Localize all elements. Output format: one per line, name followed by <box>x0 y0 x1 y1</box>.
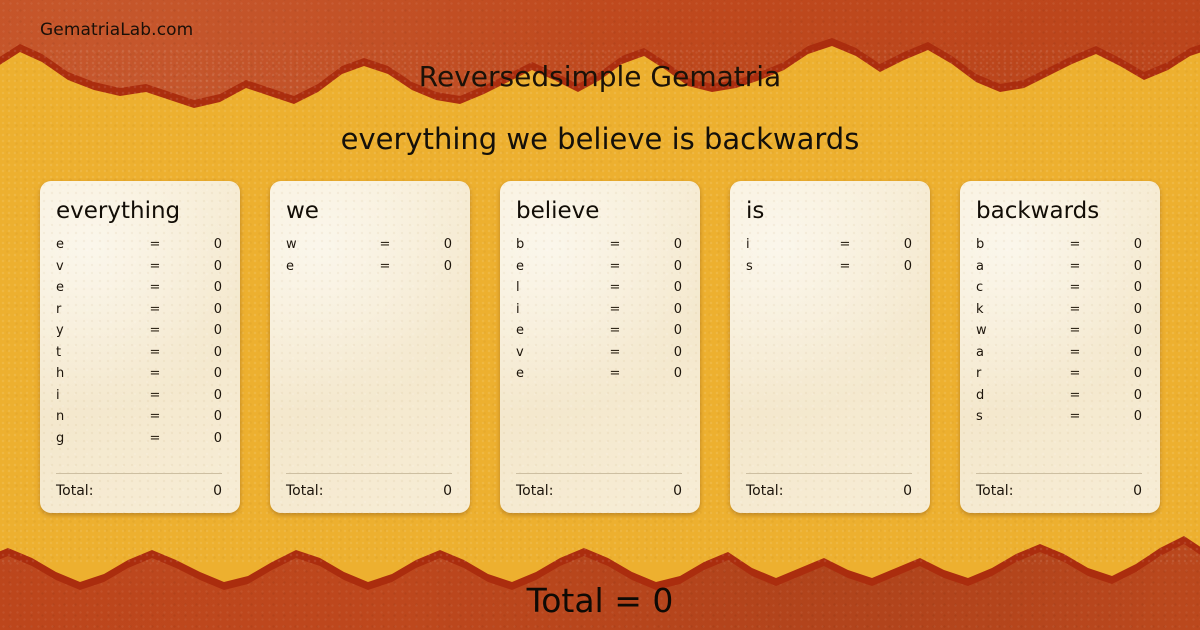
gematria-result-page: GematriaLab.com Reversedsimple Gematria … <box>0 0 1200 630</box>
letter-row: e = 0 <box>516 323 682 345</box>
equals-sign: = <box>366 237 404 252</box>
letter-value: 0 <box>634 345 682 360</box>
letter-value: 0 <box>404 259 452 274</box>
letter-value-list: b = 0 a = 0 c = 0 k = 0 <box>976 237 1142 473</box>
card-word-title: backwards <box>976 199 1142 223</box>
word-card: is i = 0 s = 0 Total: 0 <box>730 181 930 513</box>
letter: e <box>56 280 136 295</box>
letter-row: e = 0 <box>56 237 222 259</box>
letter-row: w = 0 <box>286 237 452 259</box>
letter: w <box>286 237 366 252</box>
letter-row: y = 0 <box>56 323 222 345</box>
card-word-title: is <box>746 199 912 223</box>
equals-sign: = <box>1056 280 1094 295</box>
letter-row: i = 0 <box>516 302 682 324</box>
equals-sign: = <box>136 259 174 274</box>
letter: a <box>976 259 1056 274</box>
letter: s <box>976 409 1056 424</box>
letter: e <box>516 366 596 381</box>
letter-value: 0 <box>1094 409 1142 424</box>
card-total-row: Total: 0 <box>56 483 222 499</box>
letter: e <box>516 323 596 338</box>
equals-sign: = <box>1056 345 1094 360</box>
letter-value: 0 <box>174 302 222 317</box>
equals-sign: = <box>596 280 634 295</box>
card-divider <box>976 473 1142 474</box>
letter: b <box>976 237 1056 252</box>
letter-value-list: e = 0 v = 0 e = 0 r = 0 <box>56 237 222 473</box>
letter-value: 0 <box>174 366 222 381</box>
word-card: believe b = 0 e = 0 l = 0 i <box>500 181 700 513</box>
equals-sign: = <box>596 237 634 252</box>
equals-sign: = <box>1056 409 1094 424</box>
letter-value: 0 <box>634 259 682 274</box>
equals-sign: = <box>136 323 174 338</box>
card-total-value: 0 <box>213 483 222 499</box>
letter-value: 0 <box>174 237 222 252</box>
letter-value: 0 <box>174 409 222 424</box>
letter-value: 0 <box>634 302 682 317</box>
letter-value: 0 <box>634 237 682 252</box>
equals-sign: = <box>136 388 174 403</box>
letter-row: v = 0 <box>56 259 222 281</box>
letter: y <box>56 323 136 338</box>
letter-row: i = 0 <box>746 237 912 259</box>
letter: e <box>516 259 596 274</box>
phrase-text: everything we believe is backwards <box>0 122 1200 156</box>
letter-row: b = 0 <box>516 237 682 259</box>
letter: k <box>976 302 1056 317</box>
letter: t <box>56 345 136 360</box>
word-card: we w = 0 e = 0 Total: 0 <box>270 181 470 513</box>
equals-sign: = <box>136 280 174 295</box>
letter-row: r = 0 <box>56 302 222 324</box>
letter-value-list: w = 0 e = 0 <box>286 237 452 473</box>
letter-value: 0 <box>174 259 222 274</box>
letter: s <box>746 259 826 274</box>
equals-sign: = <box>136 431 174 446</box>
card-total-label: Total: <box>746 483 783 499</box>
equals-sign: = <box>596 345 634 360</box>
letter-row: e = 0 <box>56 280 222 302</box>
word-card: backwards b = 0 a = 0 c = 0 k <box>960 181 1160 513</box>
equals-sign: = <box>136 366 174 381</box>
card-total-row: Total: 0 <box>746 483 912 499</box>
letter-value: 0 <box>1094 345 1142 360</box>
letter: i <box>516 302 596 317</box>
equals-sign: = <box>136 302 174 317</box>
letter-value: 0 <box>634 366 682 381</box>
letter-value: 0 <box>174 323 222 338</box>
letter: w <box>976 323 1056 338</box>
letter: c <box>976 280 1056 295</box>
equals-sign: = <box>1056 366 1094 381</box>
equals-sign: = <box>1056 302 1094 317</box>
card-total-value: 0 <box>1133 483 1142 499</box>
word-card: everything e = 0 v = 0 e = 0 r <box>40 181 240 513</box>
card-total-row: Total: 0 <box>976 483 1142 499</box>
letter-row: e = 0 <box>516 259 682 281</box>
letter: h <box>56 366 136 381</box>
equals-sign: = <box>136 345 174 360</box>
letter-row: i = 0 <box>56 388 222 410</box>
card-total-value: 0 <box>903 483 912 499</box>
letter-value: 0 <box>634 323 682 338</box>
letter-value: 0 <box>864 237 912 252</box>
letter-row: e = 0 <box>286 259 452 281</box>
letter: v <box>516 345 596 360</box>
letter: a <box>976 345 1056 360</box>
letter-row: w = 0 <box>976 323 1142 345</box>
letter: v <box>56 259 136 274</box>
letter-value: 0 <box>174 431 222 446</box>
letter-row: d = 0 <box>976 388 1142 410</box>
letter: e <box>56 237 136 252</box>
equals-sign: = <box>1056 237 1094 252</box>
card-total-row: Total: 0 <box>516 483 682 499</box>
letter-row: n = 0 <box>56 409 222 431</box>
grand-total: Total = 0 <box>0 581 1200 620</box>
letter-row: t = 0 <box>56 345 222 367</box>
equals-sign: = <box>596 366 634 381</box>
letter: l <box>516 280 596 295</box>
letter-row: s = 0 <box>746 259 912 281</box>
letter: r <box>976 366 1056 381</box>
cipher-title: Reversedsimple Gematria <box>0 60 1200 93</box>
letter-row: l = 0 <box>516 280 682 302</box>
letter-value: 0 <box>174 388 222 403</box>
letter-row: v = 0 <box>516 345 682 367</box>
equals-sign: = <box>136 409 174 424</box>
letter-value: 0 <box>1094 280 1142 295</box>
letter-row: c = 0 <box>976 280 1142 302</box>
letter: d <box>976 388 1056 403</box>
equals-sign: = <box>1056 259 1094 274</box>
card-divider <box>746 473 912 474</box>
card-total-value: 0 <box>673 483 682 499</box>
letter-value: 0 <box>174 280 222 295</box>
card-word-title: everything <box>56 199 222 223</box>
letter-value: 0 <box>634 280 682 295</box>
card-divider <box>56 473 222 474</box>
letter-value: 0 <box>1094 237 1142 252</box>
card-total-label: Total: <box>286 483 323 499</box>
letter: r <box>56 302 136 317</box>
word-cards-container: everything e = 0 v = 0 e = 0 r <box>40 181 1160 513</box>
letter-value: 0 <box>1094 366 1142 381</box>
letter-row: e = 0 <box>516 366 682 388</box>
card-total-label: Total: <box>516 483 553 499</box>
letter-value: 0 <box>1094 259 1142 274</box>
letter: i <box>746 237 826 252</box>
letter-row: s = 0 <box>976 409 1142 431</box>
equals-sign: = <box>1056 323 1094 338</box>
card-total-value: 0 <box>443 483 452 499</box>
letter-row: g = 0 <box>56 431 222 453</box>
letter-value-list: i = 0 s = 0 <box>746 237 912 473</box>
equals-sign: = <box>1056 388 1094 403</box>
equals-sign: = <box>136 237 174 252</box>
letter-row: k = 0 <box>976 302 1142 324</box>
equals-sign: = <box>826 237 864 252</box>
letter: i <box>56 388 136 403</box>
letter-value-list: b = 0 e = 0 l = 0 i = 0 <box>516 237 682 473</box>
equals-sign: = <box>596 302 634 317</box>
card-word-title: believe <box>516 199 682 223</box>
letter-value: 0 <box>864 259 912 274</box>
letter: b <box>516 237 596 252</box>
card-total-row: Total: 0 <box>286 483 452 499</box>
card-total-label: Total: <box>976 483 1013 499</box>
card-divider <box>516 473 682 474</box>
letter-row: b = 0 <box>976 237 1142 259</box>
letter: g <box>56 431 136 446</box>
equals-sign: = <box>596 323 634 338</box>
site-watermark: GematriaLab.com <box>40 20 193 40</box>
card-divider <box>286 473 452 474</box>
equals-sign: = <box>826 259 864 274</box>
letter-value: 0 <box>174 345 222 360</box>
letter-row: h = 0 <box>56 366 222 388</box>
letter: e <box>286 259 366 274</box>
letter-value: 0 <box>1094 323 1142 338</box>
equals-sign: = <box>596 259 634 274</box>
letter-value: 0 <box>1094 302 1142 317</box>
letter-row: r = 0 <box>976 366 1142 388</box>
equals-sign: = <box>366 259 404 274</box>
letter-value: 0 <box>1094 388 1142 403</box>
letter: n <box>56 409 136 424</box>
card-word-title: we <box>286 199 452 223</box>
letter-value: 0 <box>404 237 452 252</box>
card-total-label: Total: <box>56 483 93 499</box>
letter-row: a = 0 <box>976 259 1142 281</box>
letter-row: a = 0 <box>976 345 1142 367</box>
